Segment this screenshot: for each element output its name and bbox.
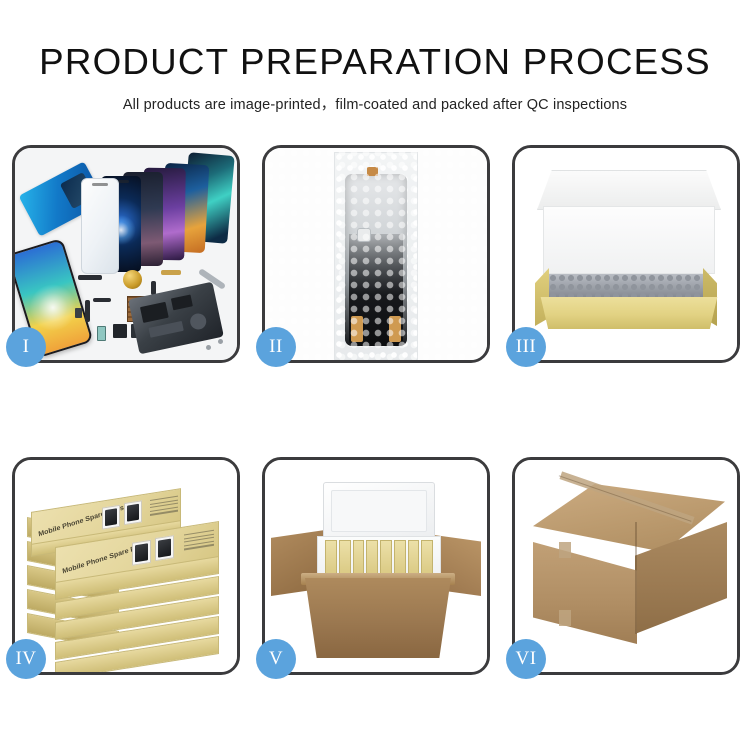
carton-front-face	[533, 542, 637, 644]
wrapped-screen-assembly	[345, 174, 407, 346]
carton-tape-front-lower	[559, 610, 571, 626]
panel-badge: I	[6, 327, 46, 367]
box-bullets-1	[150, 496, 178, 518]
battery-part-icon	[97, 326, 106, 341]
flex-cable-4	[161, 270, 181, 275]
screen-tab-icon	[367, 167, 378, 176]
page-header: PRODUCT PREPARATION PROCESS All products…	[0, 0, 750, 114]
carton-foam-illustration	[265, 460, 487, 672]
sealed-carton-illustration	[515, 460, 737, 672]
carton-corner-edge	[635, 522, 637, 634]
screen-foot-right	[389, 316, 401, 342]
box-stack-illustration: Mobile Phone Spare Parts Mobile Phone Sp…	[15, 460, 237, 672]
panel-badge: II	[256, 327, 296, 367]
screw-icon-2	[206, 345, 211, 350]
retail-box-stack-panel[interactable]: Mobile Phone Spare Parts Mobile Phone Sp…	[12, 457, 240, 675]
screen-connector-icon	[357, 228, 371, 242]
screw-icon-1	[218, 339, 223, 344]
flex-cable-2	[85, 300, 90, 322]
box-lid	[537, 170, 721, 210]
phone-parts-illustration	[15, 148, 237, 360]
bubble-sheet-layer	[549, 274, 709, 300]
small-part-icon	[75, 308, 82, 318]
flex-cable-1	[78, 275, 102, 280]
page-title: PRODUCT PREPARATION PROCESS	[0, 42, 750, 82]
box-window-2b	[155, 535, 174, 561]
box-bullets-2	[184, 530, 214, 553]
carton-body	[305, 578, 451, 658]
bubble-wrapped-screen-panel[interactable]: II	[262, 145, 490, 363]
flex-cable-3	[93, 298, 111, 302]
screen-glass-panel	[81, 178, 119, 274]
screen-foot-left	[351, 316, 363, 342]
sealed-carton-panel[interactable]: VI	[512, 457, 740, 675]
bubble-wrap-illustration	[265, 148, 487, 360]
foam-lined-box-panel[interactable]: III	[512, 145, 740, 363]
gold-connector-icon	[123, 270, 142, 289]
box-front-panel	[535, 297, 723, 329]
glass-notch-icon	[92, 183, 108, 186]
foam-sheet	[543, 206, 715, 274]
panel-badge: VI	[506, 639, 546, 679]
phone-parts-panel[interactable]: I	[12, 145, 240, 363]
camera-module-icon	[113, 324, 127, 338]
panel-badge: III	[506, 327, 546, 367]
foam-box-illustration	[515, 148, 737, 360]
page-subtitle: All products are image-printed，film-coat…	[0, 93, 750, 114]
foam-lid	[323, 482, 435, 540]
box-stack: Mobile Phone Spare Parts Mobile Phone Sp…	[27, 474, 231, 664]
carton-tape-front-upper	[559, 542, 571, 558]
panel-badge: IV	[6, 639, 46, 679]
box-window-1a	[102, 505, 120, 530]
process-panel-grid: I II III	[12, 145, 740, 675]
box-window-2a	[132, 540, 151, 566]
box-window-1b	[124, 500, 142, 525]
carton-with-foam-panel[interactable]: V	[262, 457, 490, 675]
motherboard-icon	[128, 282, 224, 355]
panel-badge: V	[256, 639, 296, 679]
